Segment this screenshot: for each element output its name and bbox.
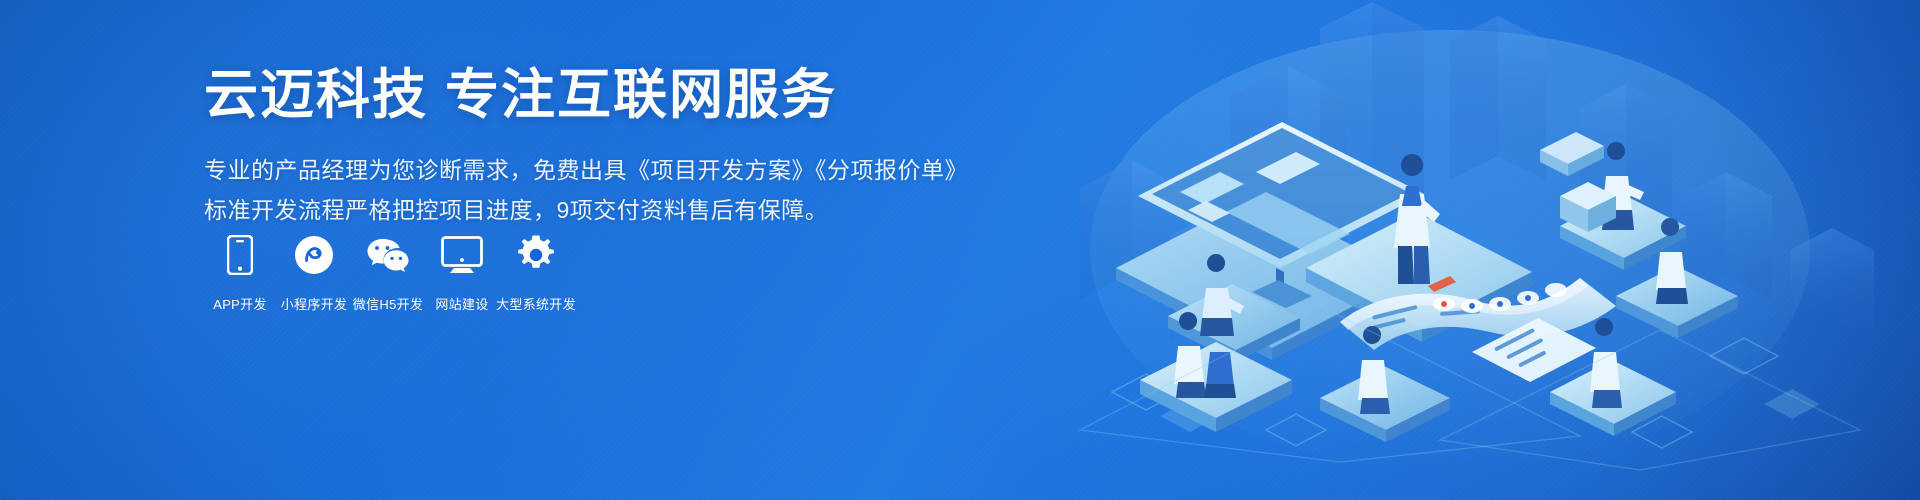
service-item-website[interactable]: 网站建设 — [426, 232, 498, 313]
service-label-mini-program: 小程序开发 — [281, 294, 348, 313]
subtitle-line-1: 专业的产品经理为您诊断需求，免费出具《项目开发方案》《分项报价单》 — [204, 151, 964, 191]
service-label-large-system: 大型系统开发 — [496, 294, 576, 313]
service-label-app: APP开发 — [213, 294, 267, 313]
isometric-illustration — [1020, 0, 1920, 500]
service-item-large-system[interactable]: 大型系统开发 — [500, 232, 572, 313]
service-label-website: 网站建设 — [435, 294, 488, 313]
banner-subtitle: 专业的产品经理为您诊断需求，免费出具《项目开发方案》《分项报价单》 标准开发流程… — [204, 151, 964, 230]
service-item-mini-program[interactable]: 小程序开发 — [278, 232, 350, 313]
service-label-wechat-h5: 微信H5开发 — [353, 294, 423, 313]
mini-program-icon — [294, 232, 334, 278]
page-title: 云迈科技 专注互联网服务 — [204, 66, 964, 125]
banner-copy: 云迈科技 专注互联网服务 专业的产品经理为您诊断需求，免费出具《项目开发方案》《… — [204, 66, 964, 230]
service-item-wechat-h5[interactable]: 微信H5开发 — [352, 232, 424, 313]
subtitle-line-2: 标准开发流程严格把控项目进度，9项交付资料售后有保障。 — [204, 191, 964, 231]
monitor-icon — [441, 232, 483, 278]
service-item-app[interactable]: APP开发 — [204, 232, 276, 313]
gear-icon — [516, 232, 556, 278]
service-icon-row: APP开发 小程序开发 — [204, 232, 572, 313]
wechat-icon — [366, 232, 410, 278]
promo-banner: 云迈科技 专注互联网服务 专业的产品经理为您诊断需求，免费出具《项目开发方案》《… — [0, 0, 1920, 500]
mobile-phone-icon — [227, 232, 253, 278]
